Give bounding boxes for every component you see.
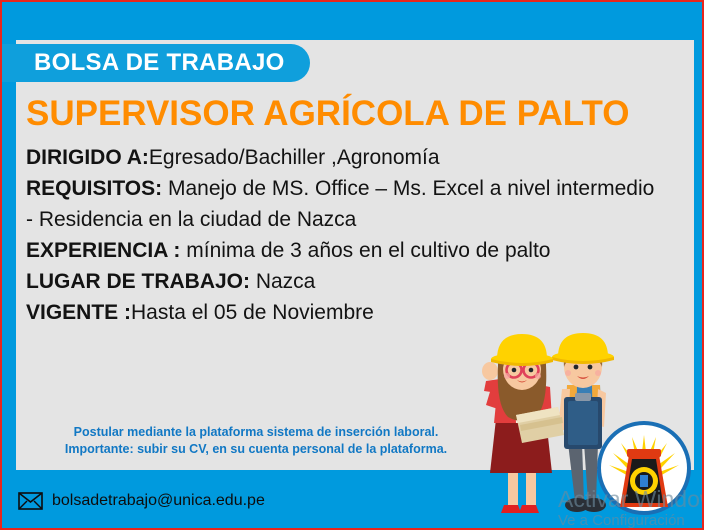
- detail-value-lugar: Nazca: [250, 270, 315, 293]
- detail-label-experiencia: EXPERIENCIA :: [26, 239, 180, 262]
- detail-value-experiencia: mínima de 3 años en el cultivo de palto: [180, 239, 550, 262]
- detail-value-vigente: Hasta el 05 de Noviembre: [131, 301, 374, 324]
- detail-value-dirigido-a: Egresado/Bachiller ,Agronomía: [149, 146, 440, 169]
- badge-label: BOLSA DE TRABAJO: [34, 49, 285, 77]
- detail-label-vigente: VIGENTE :: [26, 301, 131, 324]
- detail-lugar-de-trabajo: LUGAR DE TRABAJO: Nazca: [26, 266, 656, 297]
- detail-requisitos: REQUISITOS: Manejo de MS. Office – Ms. E…: [26, 173, 656, 204]
- note-line-1: Postular mediante la plataforma sistema …: [26, 424, 486, 441]
- note-line-2: Importante: subir su CV, en su cuenta pe…: [26, 441, 486, 458]
- detail-label-lugar: LUGAR DE TRABAJO:: [26, 270, 250, 293]
- detail-value-residencia: - Residencia en la ciudad de Nazca: [26, 208, 356, 231]
- bolsa-de-trabajo-badge: BOLSA DE TRABAJO: [2, 44, 310, 82]
- envelope-icon: [18, 492, 43, 510]
- job-posting-poster: BOLSA DE TRABAJO SUPERVISOR AGRÍCOLA DE …: [0, 0, 704, 530]
- job-details-list: DIRIGIDO A:Egresado/Bachiller ,Agronomía…: [26, 142, 656, 328]
- detail-value-requisitos: Manejo de MS. Office – Ms. Excel a nivel…: [162, 177, 654, 200]
- detail-residencia: - Residencia en la ciudad de Nazca: [26, 204, 656, 235]
- detail-label-dirigido-a: DIRIGIDO A:: [26, 146, 149, 169]
- illustration-two-workers: [472, 323, 700, 528]
- page-title: SUPERVISOR AGRÍCOLA DE PALTO: [26, 94, 630, 134]
- university-seal-icon: [598, 422, 690, 514]
- contact-email-text: bolsadetrabajo@unica.edu.pe: [52, 492, 265, 510]
- contact-email-row[interactable]: bolsadetrabajo@unica.edu.pe: [18, 492, 265, 510]
- female-worker-figure: [482, 334, 564, 513]
- detail-vigente: VIGENTE :Hasta el 05 de Noviembre: [26, 297, 656, 328]
- detail-label-requisitos: REQUISITOS:: [26, 177, 162, 200]
- application-note: Postular mediante la plataforma sistema …: [26, 424, 486, 458]
- detail-experiencia: EXPERIENCIA : mínima de 3 años en el cul…: [26, 235, 656, 266]
- detail-dirigido-a: DIRIGIDO A:Egresado/Bachiller ,Agronomía: [26, 142, 656, 173]
